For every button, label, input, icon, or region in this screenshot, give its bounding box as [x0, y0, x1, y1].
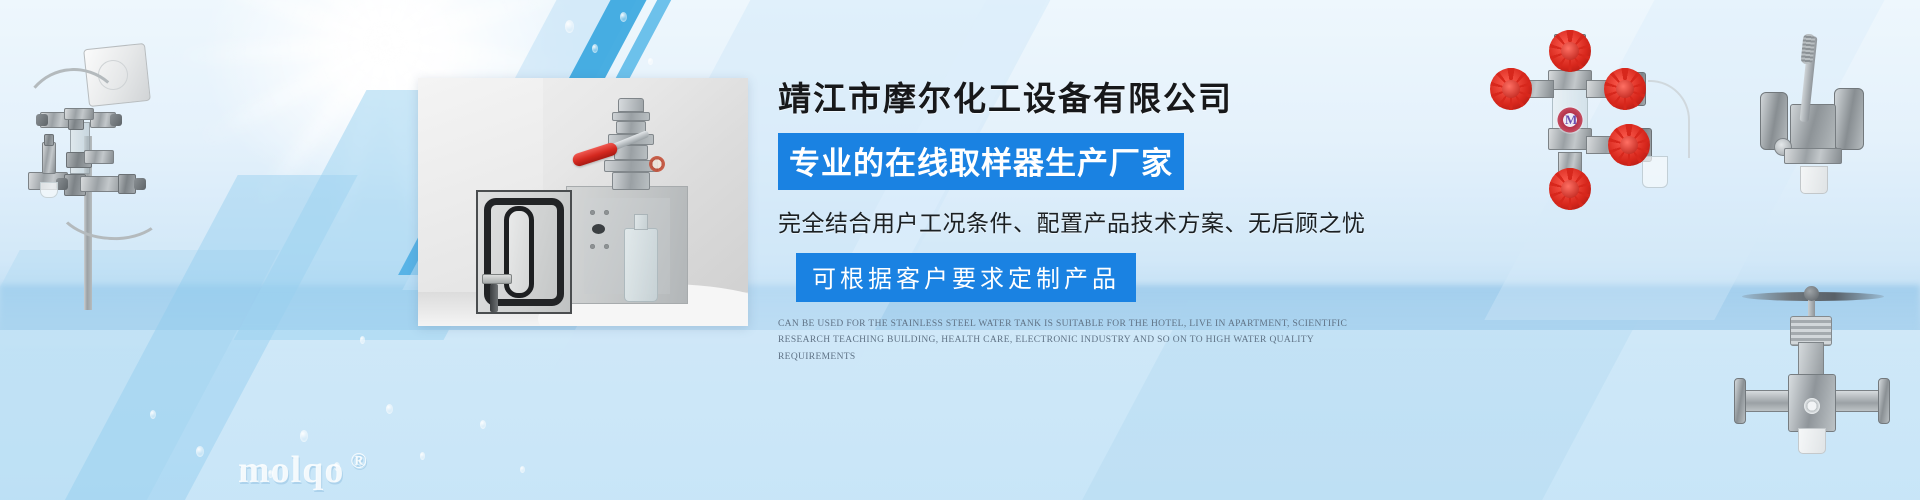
red-handwheel-icon: [1490, 68, 1532, 110]
lever-handle-flanged-sampler-image: [1718, 26, 1908, 226]
headline-badge: 专业的在线取样器生产厂家: [778, 133, 1184, 190]
sub-headline: 完全结合用户工况条件、配置产品技术方案、无后顾之忧: [778, 204, 1398, 238]
brand-seal-icon: M: [1556, 106, 1584, 134]
online-sampler-cabinet-photo[interactable]: [418, 78, 748, 326]
promo-banner: 靖江市摩尔化工设备有限公司 专业的在线取样器生产厂家 完全结合用户工况条件、配置…: [0, 0, 1920, 500]
vertical-flanged-sampler-image: [1722, 278, 1904, 468]
banner-text-block: 靖江市摩尔化工设备有限公司 专业的在线取样器生产厂家 完全结合用户工况条件、配置…: [778, 72, 1398, 365]
red-handwheel-icon: [1549, 30, 1591, 72]
watermark-text: molqo: [238, 449, 344, 491]
company-name: 靖江市摩尔化工设备有限公司: [778, 72, 1398, 120]
cross-valve-sampler-image: M: [1452, 28, 1702, 208]
watermark-logo: molqo®: [238, 448, 368, 492]
fineprint-description: CAN BE USED FOR THE STAINLESS STEEL WATE…: [778, 316, 1378, 365]
secondary-badge: 可根据客户要求定制产品: [796, 253, 1136, 302]
red-handwheel-icon: [1608, 124, 1650, 166]
registered-mark-icon: ®: [350, 448, 367, 473]
pole-mounted-sampling-station-image: [6, 24, 178, 310]
red-handwheel-icon: [1549, 168, 1591, 210]
red-handwheel-icon: [1604, 68, 1646, 110]
